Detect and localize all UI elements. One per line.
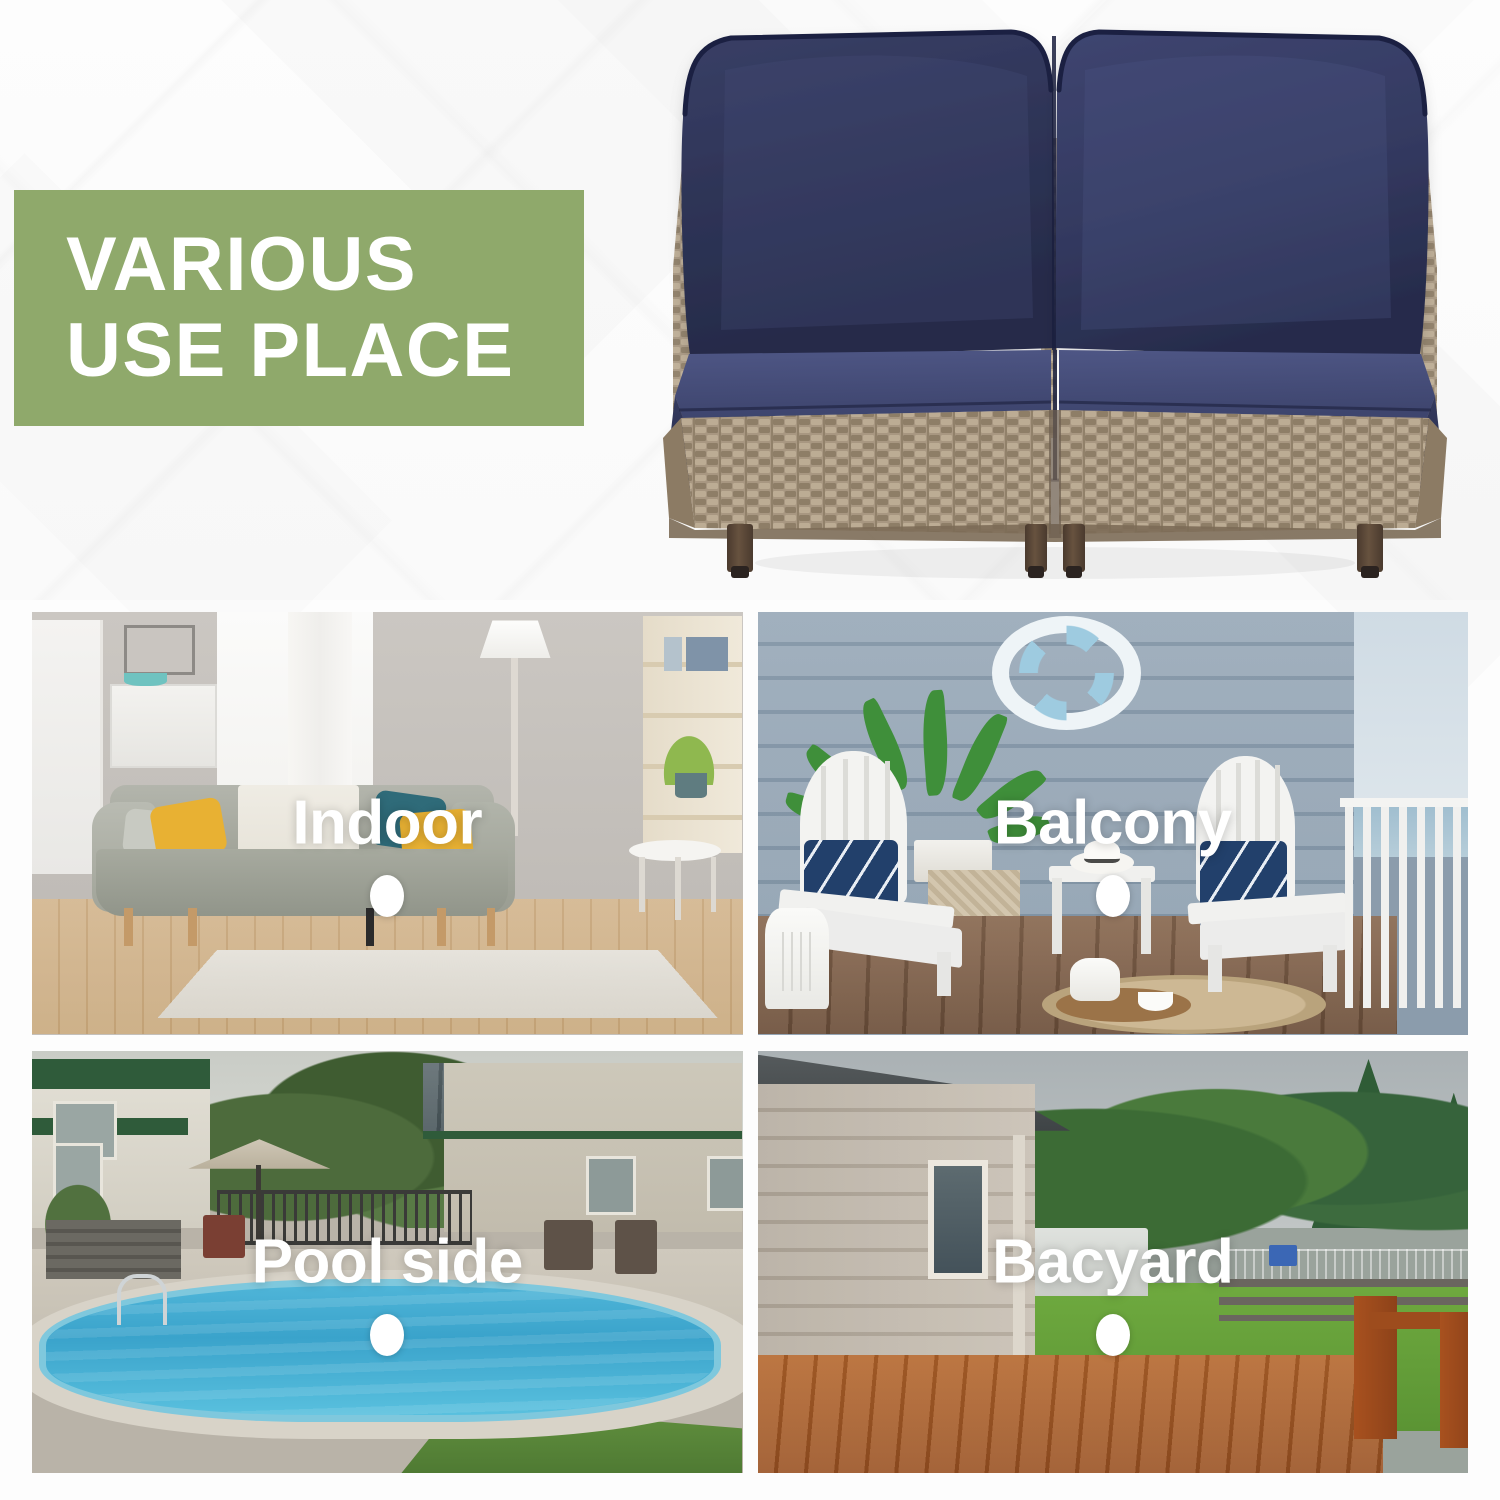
use-case-tile-poolside[interactable]: Pool side	[32, 1051, 743, 1474]
headline-banner: VARIOUS USE PLACE	[14, 190, 584, 426]
product-sofa-image	[655, 18, 1455, 583]
headline-line-1: VARIOUS	[66, 222, 584, 308]
poolside-scene	[32, 1051, 743, 1474]
sofa-illustration	[655, 18, 1455, 583]
balcony-railing	[1340, 798, 1468, 1018]
tile-dot-backyard	[1096, 1314, 1130, 1356]
indoor-scene	[32, 612, 743, 1035]
use-case-grid: Indoor	[32, 612, 1468, 1473]
backyard-scene	[758, 1051, 1469, 1474]
use-case-tile-indoor[interactable]: Indoor	[32, 612, 743, 1035]
tile-dot-poolside	[370, 1314, 404, 1356]
headline-line-2: USE PLACE	[66, 308, 584, 394]
use-case-tile-balcony[interactable]: Balcony	[758, 612, 1469, 1035]
use-case-tile-backyard[interactable]: Bacyard	[758, 1051, 1469, 1474]
product-feature-image: VARIOUS USE PLACE	[0, 0, 1500, 1500]
balcony-scene	[758, 612, 1469, 1035]
tile-dot-balcony	[1096, 875, 1130, 917]
